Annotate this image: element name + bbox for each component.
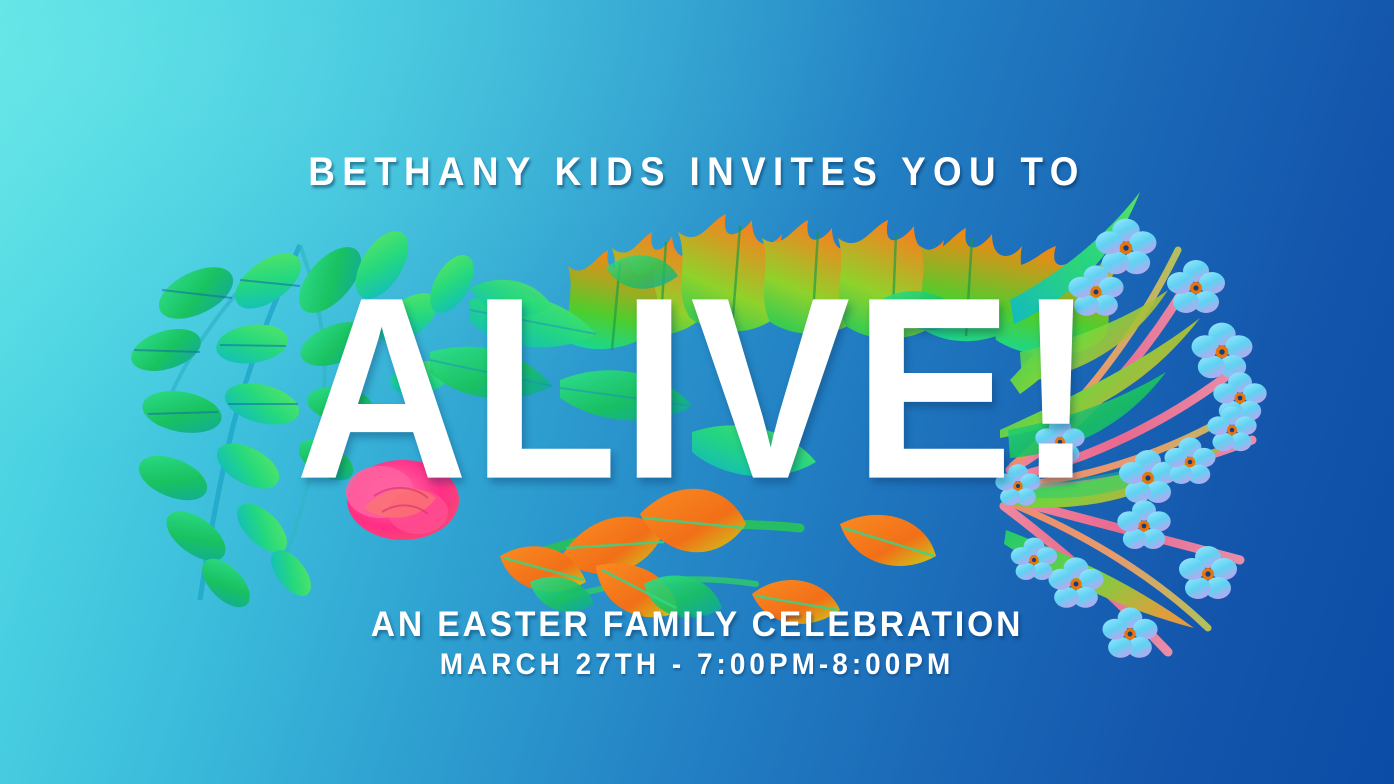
subtitle-text: AN EASTER FAMILY CELEBRATION (28, 605, 1366, 645)
datetime-text: MARCH 27TH - 7:00PM-8:00PM (49, 648, 1345, 682)
headline-text: ALIVE! (295, 258, 1099, 517)
headline-alive: ALIVE! (0, 258, 1394, 517)
kicker-text: BETHANY KIDS INVITES YOU TO (56, 150, 1338, 195)
easter-event-poster: BETHANY KIDS INVITES YOU TO ALIVE! AN EA… (0, 0, 1394, 784)
